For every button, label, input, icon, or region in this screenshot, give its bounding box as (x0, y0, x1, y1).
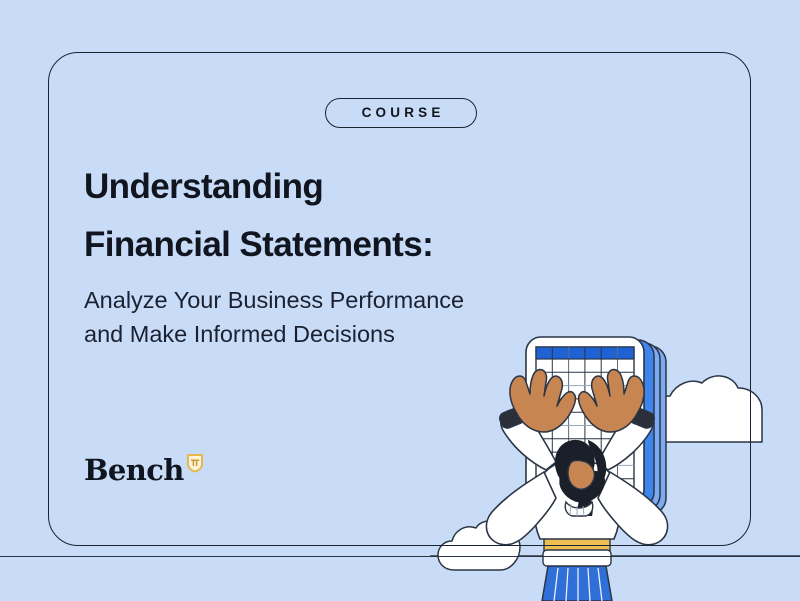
page-title: Understanding Financial Statements: (84, 158, 604, 274)
illustration-person-holding-spreadsheet (430, 320, 800, 601)
course-badge: COURSE (325, 98, 477, 128)
horizon-line (0, 556, 800, 557)
figure-skirt (542, 566, 612, 601)
page-title-line-2: Financial Statements: (84, 216, 604, 274)
bench-logo: Bench (84, 455, 204, 489)
course-badge-label: COURSE (357, 106, 444, 120)
page-subtitle: Analyze Your Business Performance and Ma… (84, 283, 604, 351)
page-title-line-1: Understanding (84, 158, 604, 216)
bench-logo-wordmark: Bench (84, 455, 184, 485)
page-subtitle-line-2: and Make Informed Decisions (84, 317, 604, 351)
bench-shield-icon (186, 453, 204, 478)
poster-canvas: COURSE Understanding Financial Statement… (0, 0, 800, 601)
figure-belt (543, 538, 611, 566)
page-subtitle-line-1: Analyze Your Business Performance (84, 283, 604, 317)
